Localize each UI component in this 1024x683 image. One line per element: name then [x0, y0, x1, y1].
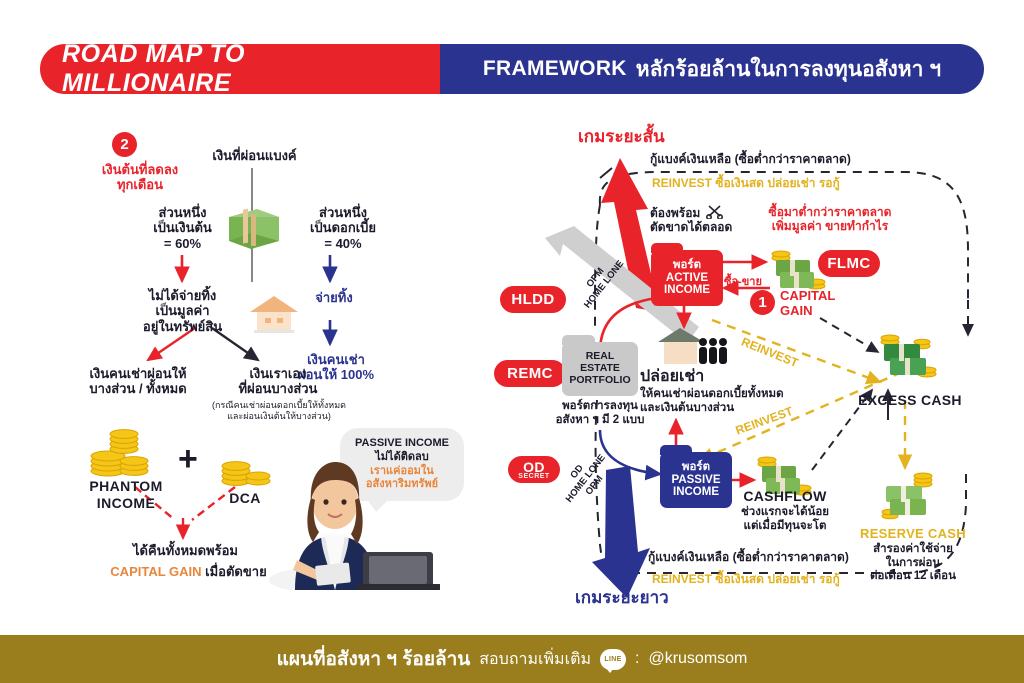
capital-gain-label: CAPITAL GAIN: [780, 288, 860, 319]
interest-result-label: จ่ายทิ้ง: [288, 290, 380, 305]
od-pill[interactable]: OD SECRET: [508, 456, 560, 483]
header-title-right: FRAMEWORK หลักร้อยล้านในการลงทุนอสังหา ฯ: [440, 44, 984, 94]
principal-result-label: ไม่ได้จ่ายทิ้ง เป็นมูลค่า อยู่ในทรัพย์สิ…: [125, 288, 240, 334]
rent-title: ปล่อยเช่า: [640, 368, 704, 387]
capital-gain-highlight: CAPITAL GAIN: [110, 564, 201, 579]
infographic-page: ROAD MAP TO MILLIONAIRE FRAMEWORK หลักร้…: [0, 0, 1024, 683]
step-title: เงินต้นที่ลดลง ทุกเดือน: [80, 162, 200, 193]
reinvest-note-top: REINVEST ซื้อเงินสด ปล่อยเช่า รอกู้: [652, 176, 840, 190]
header-title-left: ROAD MAP TO MILLIONAIRE: [40, 44, 440, 94]
flmc-pill[interactable]: FLMC: [818, 250, 880, 277]
branch-right-note: (กรณีคนเช่าผ่อนดอกเบี้ยให้ทั้งหมด และผ่อ…: [188, 400, 370, 421]
real-estate-portfolio-folder[interactable]: REAL ESTATE PORTFOLIO: [562, 342, 638, 396]
od-pill-sublabel: SECRET: [518, 473, 549, 480]
interest-share-label: ส่วนหนึ่ง เป็นดอกเบี้ย = 40%: [288, 205, 398, 251]
reserve-cash-icon: [876, 468, 942, 524]
excess-cash-icon: [872, 330, 942, 388]
businesswoman-photo: [265, 440, 440, 590]
buy-below-market-label: ซื้อมาต่ำกว่าราคาตลาด เพิ่มมูลค่า ขายทำก…: [750, 205, 910, 233]
principal-share-label: ส่วนหนึ่ง เป็นเงินต้น = 60%: [130, 205, 235, 251]
rent-description: ให้คนเช่าผ่อนดอกเบี้ยทั้งหมด และเงินต้นบ…: [640, 388, 820, 415]
buy-sell-label: ซื้อ-ขาย: [718, 276, 768, 289]
hldd-pill[interactable]: HLDD: [500, 286, 566, 313]
cashflow-description: ช่วงแรกจะได้น้อย แต่เมื่อมีทุนจะโต: [722, 506, 848, 533]
step-number-badge: 2: [112, 132, 137, 157]
footer-banner: แผนที่อสังหา ฯ ร้อยล้าน สอบถามเพิ่มเติม …: [0, 635, 1024, 683]
capital-gain-number-badge: 1: [750, 290, 775, 315]
coin-stacks-icon: [88, 425, 162, 477]
cashflow-title: CASHFLOW: [730, 488, 840, 505]
header-framework-label: FRAMEWORK: [483, 57, 627, 81]
opm-home-loan-label: OPM HOME LONE: [567, 243, 634, 320]
reserve-cash-description: สำรองค่าใช้จ่าย ในการผ่อน ต่อเดือน 12 เด…: [848, 543, 978, 584]
line-icon[interactable]: LINE: [600, 649, 626, 670]
footer-line-handle: @krusomsom: [648, 650, 747, 668]
loan-note-top: กู้แบงค์เงินเหลือ (ซื้อต่ำกว่าราคาตลาด): [650, 152, 851, 166]
footer-main-text: แผนที่อสังหา ฯ ร้อยล้าน: [277, 644, 471, 674]
excess-cash-label: EXCESS CASH: [845, 392, 975, 409]
branch-left-label: เงินคนเช่าผ่อนให้ บางส่วน / ทั้งหมด: [68, 366, 208, 397]
outcome-line-1: ได้คืนทั้งหมดพร้อม: [108, 543, 263, 558]
active-income-folder[interactable]: พอร์ต ACTIVE INCOME: [651, 250, 723, 306]
outcome-line-2: CAPITAL GAIN เมื่อตัดขาย: [96, 561, 281, 582]
branch-right-label: เงินเราเอง ที่ผ่อนบางส่วน: [215, 366, 341, 397]
reinvest-note-bottom: REINVEST ซื้อเงินสด ปล่อยเช่า รอกู้: [652, 572, 840, 586]
passive-income-folder[interactable]: พอร์ต PASSIVE INCOME: [660, 452, 732, 508]
monthly-payment-label: เงินที่ผ่อนแบงค์: [192, 148, 317, 163]
cut-loss-label: ต้องพร้อม ตัดขาดได้ตลอด: [650, 206, 750, 234]
short-game-label: เกมระยะสั้น: [578, 127, 665, 147]
outcome-suffix: เมื่อตัดขาย: [205, 564, 267, 579]
od-home-loan-opm-label: OD HOME LONE OPM: [548, 436, 625, 521]
rental-house-tenants-icon: [656, 326, 728, 368]
header-thai-subtitle: หลักร้อยล้านในการลงทุนอสังหา ฯ: [636, 53, 941, 86]
reinvest-label-upper: REINVEST: [739, 335, 800, 371]
footer-sub-text: สอบถามเพิ่มเติม: [479, 647, 591, 672]
portfolio-caption: พอร์ตการลงทุน อสังหา ฯ มี 2 แบบ: [548, 400, 652, 427]
reserve-cash-title: RESERVE CASH: [850, 526, 976, 541]
footer-separator: :: [635, 650, 639, 668]
loan-note-bottom: กู้แบงค์เงินเหลือ (ซื้อต่ำกว่าราคาตลาด): [648, 550, 849, 564]
scissors-icon: [706, 204, 723, 219]
plus-sign: +: [178, 440, 198, 479]
remc-pill[interactable]: REMC: [494, 360, 566, 387]
header-banner: ROAD MAP TO MILLIONAIRE FRAMEWORK หลักร้…: [40, 44, 984, 94]
long-game-label: เกมระยะยาว: [575, 588, 669, 608]
phantom-income-label: PHANTOM INCOME: [76, 478, 176, 511]
